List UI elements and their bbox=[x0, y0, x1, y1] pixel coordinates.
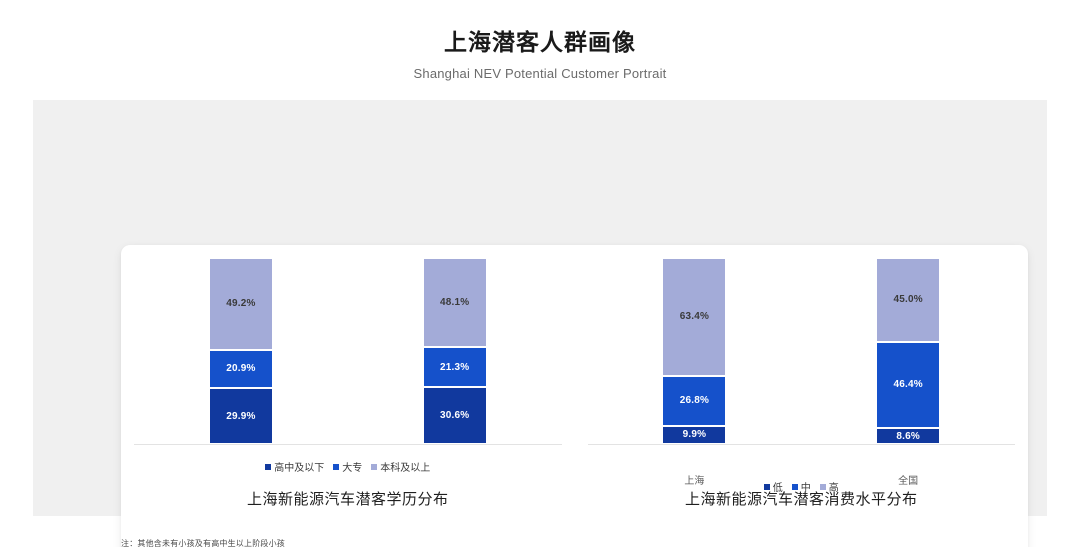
stacked-bar: 63.4%26.8%9.9% bbox=[662, 258, 726, 444]
bar-segment-high: 49.2% bbox=[209, 258, 273, 350]
slide-header: 上海潜客人群画像 Shanghai NEV Potential Customer… bbox=[0, 0, 1080, 81]
page-subtitle: Shanghai NEV Potential Customer Portrait bbox=[0, 66, 1080, 81]
x-axis-line-consumption bbox=[588, 444, 1016, 445]
bar-segment-high: 63.4% bbox=[662, 258, 726, 376]
stacked-bar: 49.2%20.9%29.9% bbox=[209, 258, 273, 444]
legend-label: 大专 bbox=[342, 459, 362, 474]
bar-segment-low: 9.9% bbox=[662, 426, 726, 444]
chart-education-distribution: 49.2%20.9%29.9%48.1%21.3%30.6% 高中及以下大专本科… bbox=[121, 245, 575, 547]
chart-caption-consumption: 上海新能源汽车潜客消费水平分布 bbox=[575, 488, 1029, 509]
bar-segment-high: 48.1% bbox=[423, 258, 487, 347]
bar-segment-mid: 21.3% bbox=[423, 347, 487, 387]
chart-consumption-distribution: 63.4%26.8%9.9%45.0%46.4%8.6% 上海全国 低中高 上海… bbox=[575, 245, 1029, 547]
slide-page: 上海潜客人群画像 Shanghai NEV Potential Customer… bbox=[0, 0, 1080, 547]
bar-segment-low: 29.9% bbox=[209, 388, 273, 444]
chart-caption-education: 上海新能源汽车潜客学历分布 bbox=[121, 488, 575, 509]
bar-segment-mid: 46.4% bbox=[876, 342, 940, 428]
page-title: 上海潜客人群画像 bbox=[0, 29, 1080, 57]
bar-segment-low: 30.6% bbox=[423, 387, 487, 444]
legend-item: 高中及以下 bbox=[265, 459, 324, 474]
charts-row: 49.2%20.9%29.9%48.1%21.3%30.6% 高中及以下大专本科… bbox=[121, 245, 1028, 547]
bar-segment-mid: 20.9% bbox=[209, 350, 273, 389]
charts-card: 49.2%20.9%29.9%48.1%21.3%30.6% 高中及以下大专本科… bbox=[121, 245, 1028, 547]
legend-label: 高中及以下 bbox=[274, 459, 324, 474]
x-axis-line-education bbox=[134, 444, 562, 445]
legend-swatch-icon bbox=[371, 464, 377, 470]
legend-item: 本科及以上 bbox=[371, 459, 430, 474]
content-panel: 49.2%20.9%29.9%48.1%21.3%30.6% 高中及以下大专本科… bbox=[33, 100, 1047, 516]
bar-segment-low: 8.6% bbox=[876, 428, 940, 444]
footnote: 注：其他含未有小孩及有高中生以上阶段小孩 bbox=[121, 538, 721, 547]
legend-swatch-icon bbox=[333, 464, 339, 470]
plot-area-consumption: 63.4%26.8%9.9%45.0%46.4%8.6% 上海全国 bbox=[575, 258, 1029, 458]
bar-segment-high: 45.0% bbox=[876, 258, 940, 342]
stacked-bar: 45.0%46.4%8.6% bbox=[876, 258, 940, 444]
legend-item: 大专 bbox=[333, 459, 362, 474]
bar-segment-mid: 26.8% bbox=[662, 376, 726, 426]
legend-education: 高中及以下大专本科及以上 bbox=[121, 459, 575, 474]
stacked-bar: 48.1%21.3%30.6% bbox=[423, 258, 487, 444]
legend-label: 本科及以上 bbox=[380, 459, 430, 474]
bar-group-consumption: 63.4%26.8%9.9%45.0%46.4%8.6% bbox=[588, 258, 1016, 444]
bar-group-education: 49.2%20.9%29.9%48.1%21.3%30.6% bbox=[134, 258, 562, 444]
legend-swatch-icon bbox=[265, 464, 271, 470]
plot-area-education: 49.2%20.9%29.9%48.1%21.3%30.6% bbox=[121, 258, 575, 458]
